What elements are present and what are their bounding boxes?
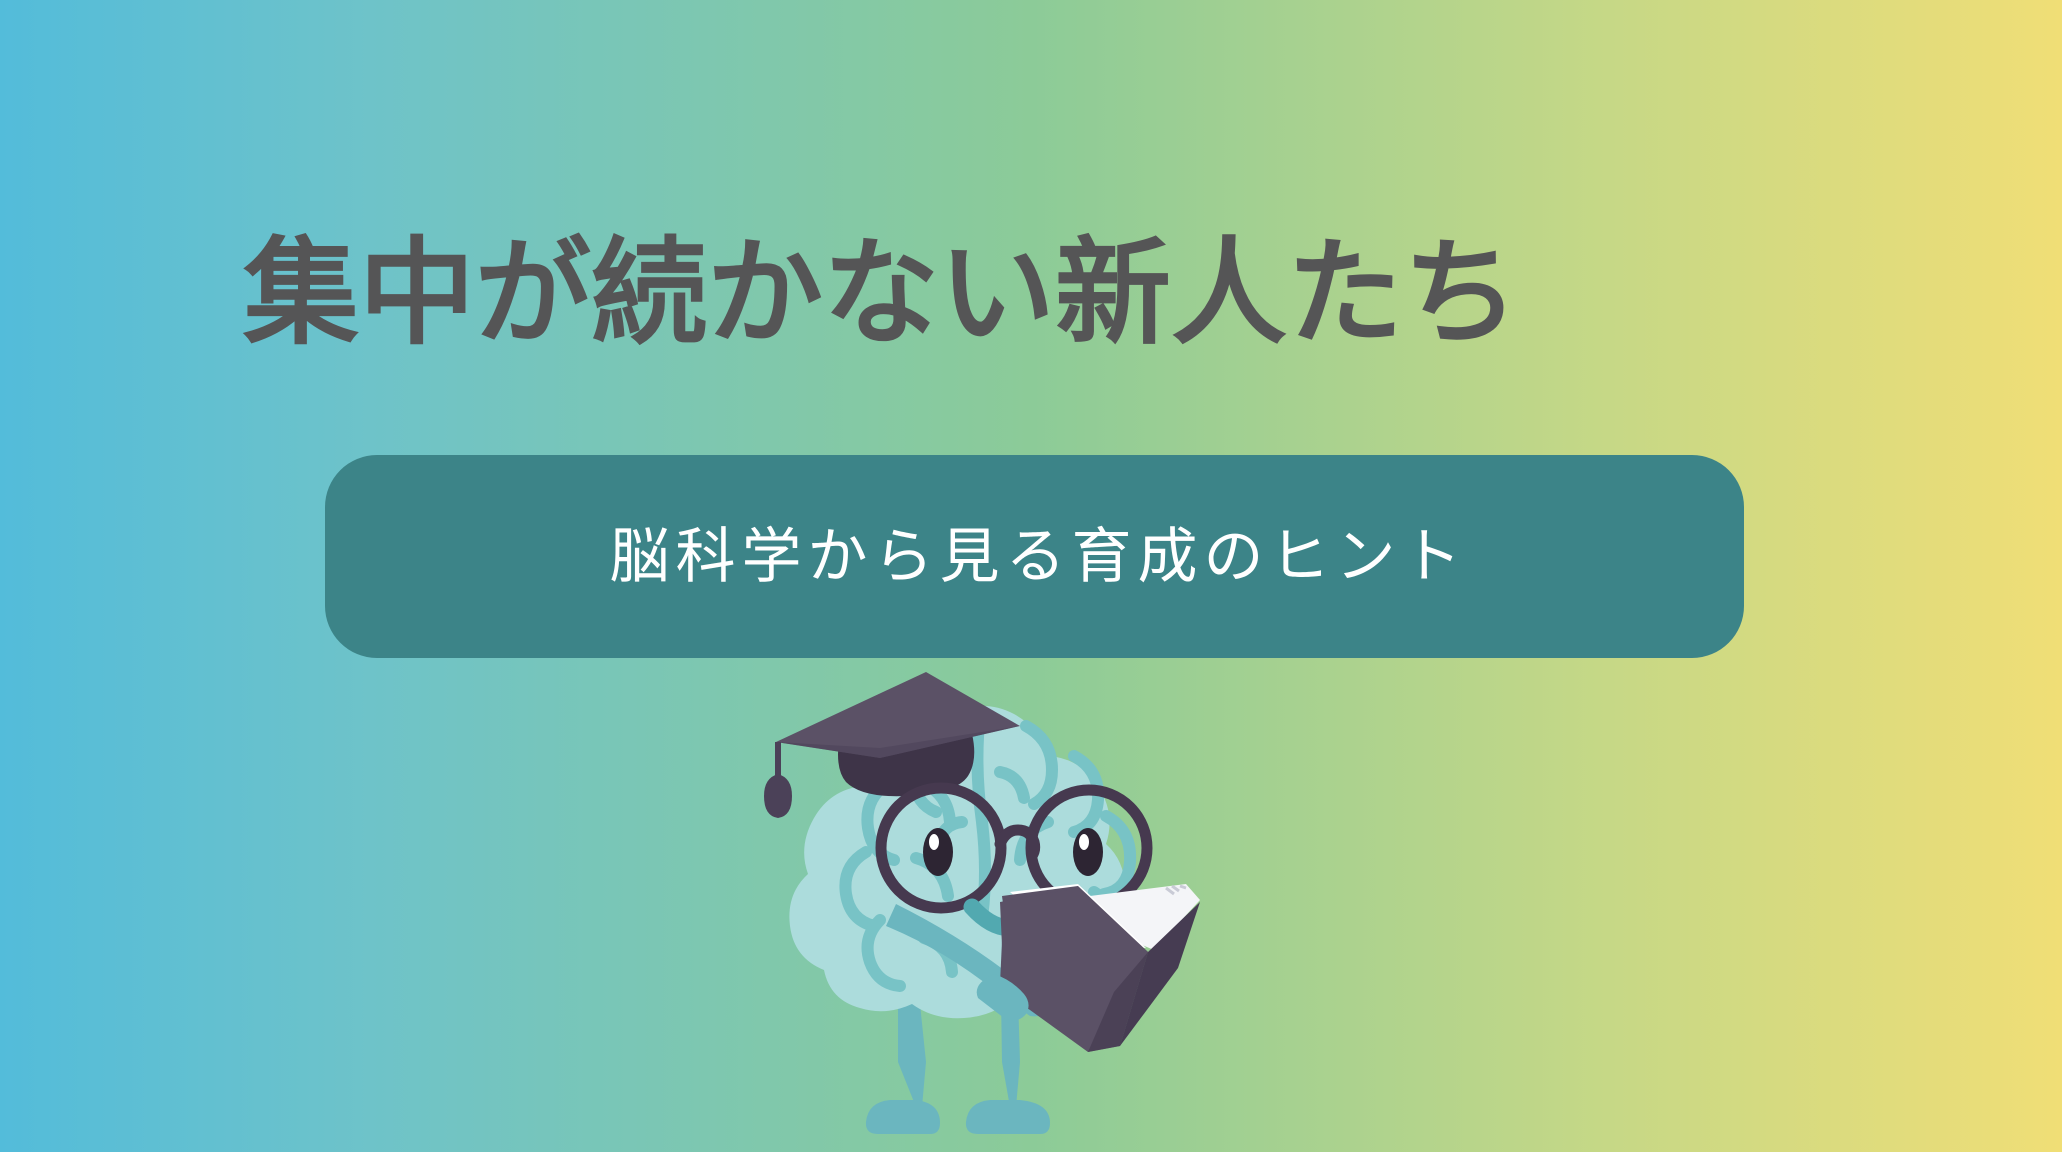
page-title: 集中が続かない新人たち: [0, 236, 2062, 352]
brain-character-illustration: [748, 652, 1248, 1152]
book: [1000, 884, 1200, 1052]
tassel-knob: [764, 774, 792, 818]
subtitle-badge-label: 脳科学から見る育成のヒント: [602, 527, 1468, 587]
banner-canvas: 集中が続かない新人たち 脳科学から見る育成のヒント: [0, 0, 2062, 1152]
subtitle-badge: 脳科学から見る育成のヒント: [325, 455, 1744, 658]
